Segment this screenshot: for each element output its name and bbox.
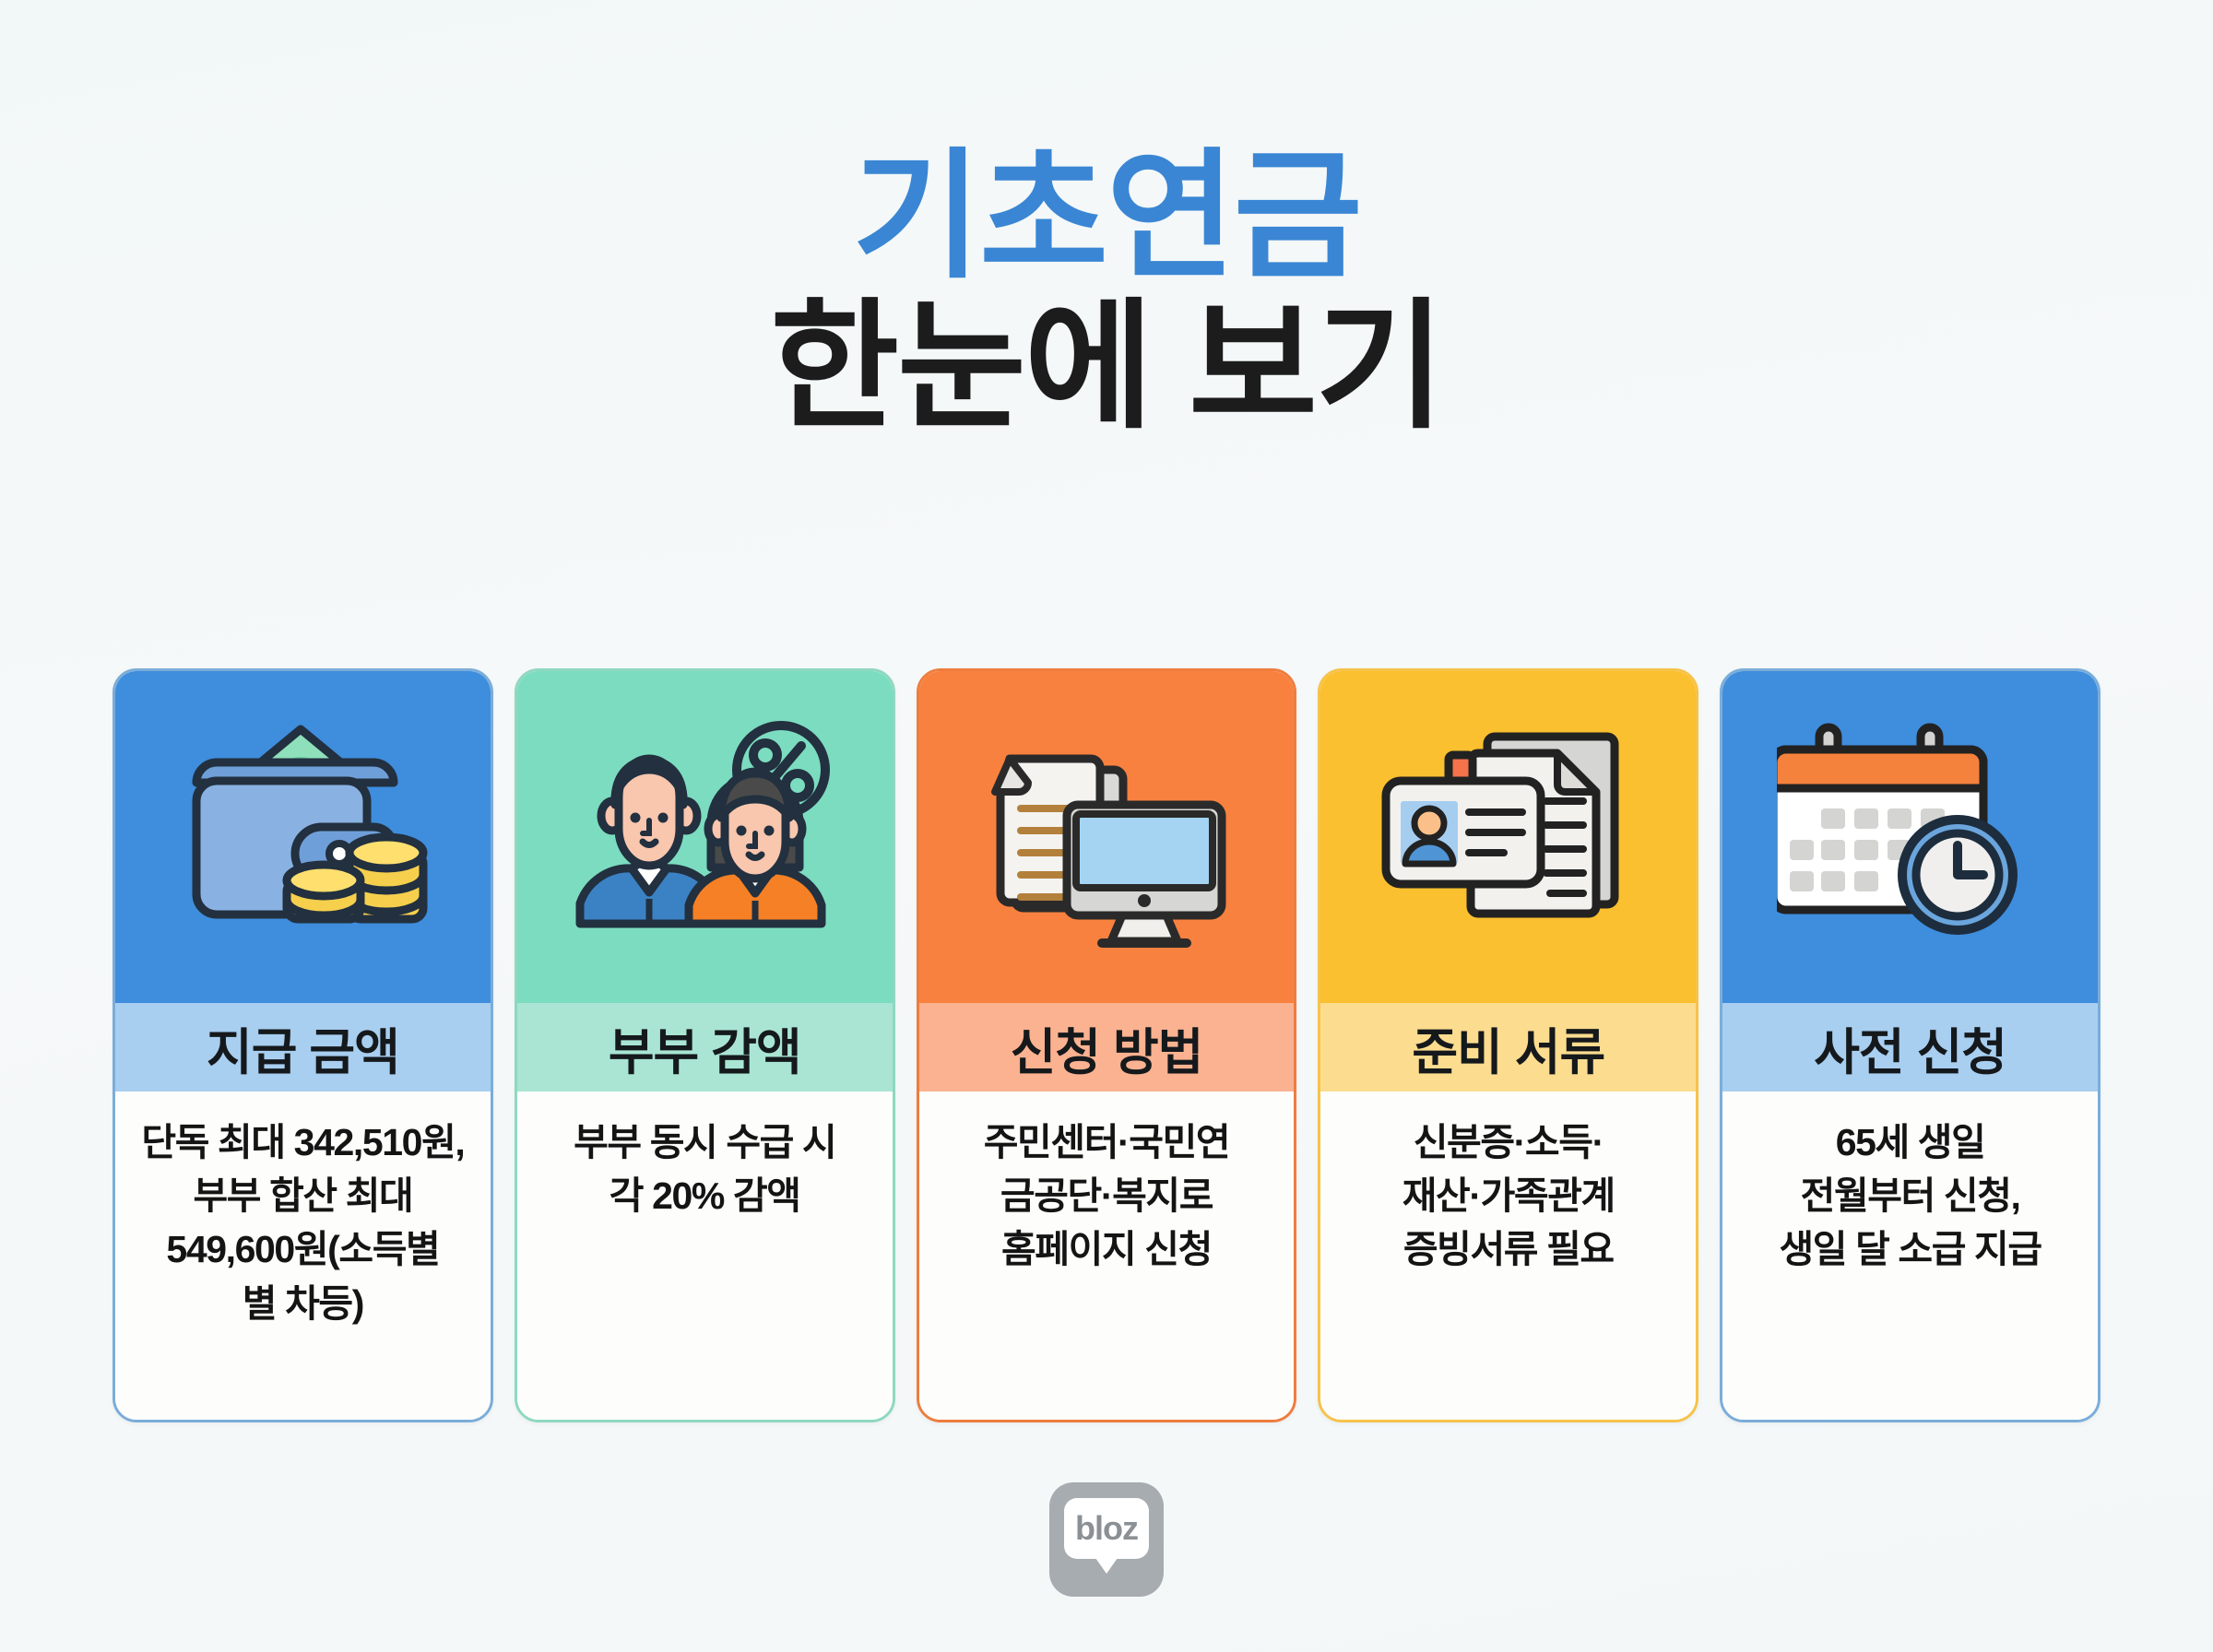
card-title-required-documents: 준비 서류 [1320,1003,1696,1091]
card-couple-reduction[interactable]: 부부 감액 부부 동시 수급 시 각 20% 감액 [515,668,895,1422]
card-body-advance-application: 65세 생일 전월부터 신청, 생일 달 소급 지급 [1722,1091,2098,1420]
card-icon-area [517,671,893,1003]
card-body-required-documents: 신분증·소득· 재산·가족관계 증빙서류 필요 [1320,1091,1696,1420]
couple-percent-icon [571,716,838,958]
card-title-application-method: 신청 방법 [919,1003,1295,1091]
calendar-clock-icon [1777,716,2044,958]
card-title-advance-application: 사전 신청 [1722,1003,2098,1091]
card-application-method[interactable]: 신청 방법 주민센터·국민연 금공단·복지로 홈페이지 신청 [917,668,1297,1422]
card-required-documents[interactable]: 준비 서류 신분증·소득· 재산·가족관계 증빙서류 필요 [1318,668,1698,1422]
card-payment-amount[interactable]: 지급 금액 단독 최대 342,510원, 부부 합산 최대 549,600원(… [112,668,493,1422]
card-icon-area [1722,671,2098,1003]
card-title-couple-reduction: 부부 감액 [517,1003,893,1091]
card-body-application-method: 주민센터·국민연 금공단·복지로 홈페이지 신청 [919,1091,1295,1420]
card-title-payment-amount: 지급 금액 [115,1003,491,1091]
page-title-line2: 한눈에 보기 [0,289,2213,445]
card-body-text: 신분증·소득· 재산·가족관계 증빙서류 필요 [1402,1115,1615,1277]
document-monitor-icon [973,716,1240,958]
card-icon-area [1320,671,1696,1003]
card-advance-application[interactable]: 사전 신청 65세 생일 전월부터 신청, 생일 달 소급 지급 [1720,668,2101,1422]
speech-bubble-icon: bloz [1064,1498,1149,1559]
card-body-text: 부부 동시 수급 시 각 20% 감액 [574,1115,835,1222]
logo-square: bloz [1049,1482,1164,1597]
page-title-line1: 기초연금 [0,146,2213,289]
wallet-money-icon [169,716,436,958]
card-body-text: 65세 생일 전월부터 신청, 생일 달 소급 지급 [1779,1115,2041,1277]
id-card-documents-icon [1375,716,1642,958]
speech-bubble-tail [1095,1558,1118,1574]
card-body-payment-amount: 단독 최대 342,510원, 부부 합산 최대 549,600원(소득별 별 … [115,1091,491,1420]
info-cards-row: 지급 금액 단독 최대 342,510원, 부부 합산 최대 549,600원(… [112,668,2101,1422]
logo-text: bloz [1075,1512,1138,1545]
page-title: 기초연금 한눈에 보기 [0,0,2213,445]
card-body-couple-reduction: 부부 동시 수급 시 각 20% 감액 [517,1091,893,1420]
card-body-text: 단독 최대 342,510원, 부부 합산 최대 549,600원(소득별 별 … [141,1115,464,1330]
card-icon-area [115,671,491,1003]
card-body-text: 주민센터·국민연 금공단·복지로 홈페이지 신청 [984,1115,1230,1277]
card-icon-area [919,671,1295,1003]
bloz-logo[interactable]: bloz [1049,1482,1164,1597]
